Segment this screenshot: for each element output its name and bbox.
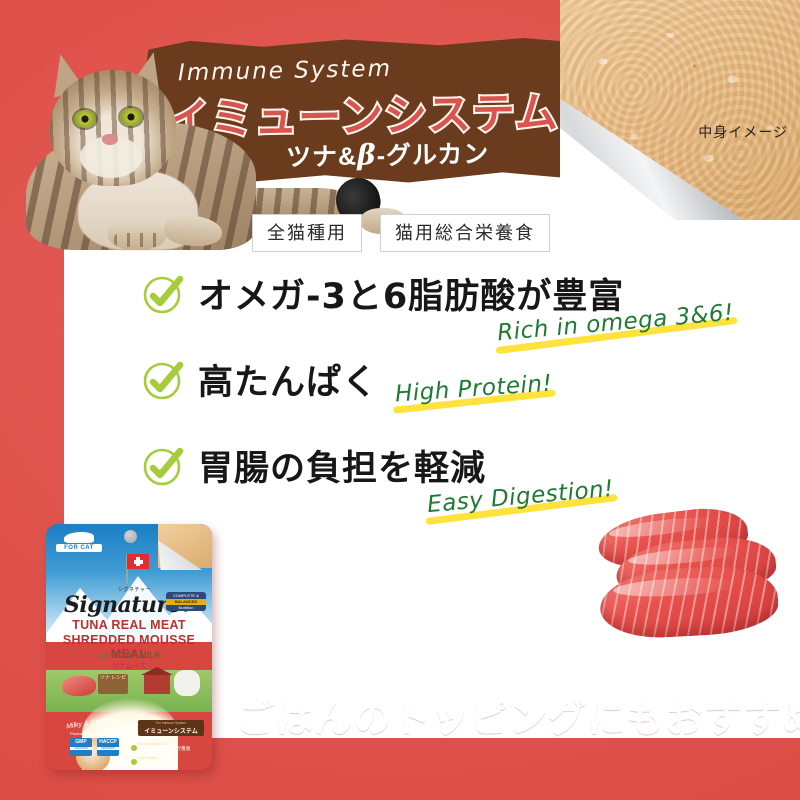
cat-nose (102, 134, 118, 145)
bottom-tagline: ごはんのトッピングにもおすすめ! (236, 688, 800, 743)
badge-all-breeds: 全猫種用 (252, 214, 362, 252)
hang-hole (124, 530, 137, 543)
package-corner-peel (158, 524, 212, 568)
with-label: with (97, 654, 109, 660)
feature-label-jp: 胃腸の負担を軽減 (198, 440, 486, 491)
panel-label-jp: イミューンシステム (138, 726, 204, 735)
feature-item: 高たんぱく High Protein! (142, 354, 762, 440)
headline-subtitle: ツナ&β-グルカン (286, 134, 490, 174)
badge-row: 全猫種用 猫用総合栄養食 (252, 214, 550, 252)
subtitle-post: -グルカン (376, 140, 489, 170)
for-cat-badge: FOR CAT (56, 532, 102, 554)
package-title-line1: TUNA REAL MEAT (46, 618, 212, 632)
cert-badge-haccp: HACCPCERTIFIED (97, 738, 119, 756)
package-title-line3: with GOAT MILK (46, 650, 212, 660)
swiss-flag-icon (127, 554, 149, 569)
cert-badge-gmp: GMPCERTIFIED (70, 738, 92, 756)
recipe-sign: ツナ レシピ (98, 674, 128, 694)
ribbon-top: COMPLETE & (173, 593, 199, 598)
badge-complete-nutrition: 猫用総合栄養食 (380, 214, 550, 252)
cat-silhouette-icon (64, 532, 94, 543)
cat-eye-left (74, 110, 96, 128)
for-cat-label: FOR CAT (56, 544, 102, 552)
cat-eye-right (120, 108, 142, 126)
package-bullet: Rich in omega 3 & 6 オメガ 3と6脂肪酸が豊富 (138, 742, 208, 752)
package-bullet: High Protein 高たんぱく (138, 756, 208, 766)
feature-item: オメガ-3と6脂肪酸が豊富 Rich in omega 3&6! (142, 268, 762, 354)
panel-label-en: For Immune System (138, 721, 204, 725)
ribbon-bottom: Nutrition (179, 605, 194, 610)
cat-toes (114, 233, 162, 247)
package-bullet-jp: 高たんぱく (138, 760, 208, 766)
tuna-meat-illustration (62, 676, 96, 696)
package-immune-panel: For Immune System イミューンシステム (138, 720, 204, 736)
feature-label-jp: 高たんぱく (198, 354, 378, 405)
check-circle-icon (142, 360, 184, 402)
check-circle-icon (142, 274, 184, 316)
feature-list: オメガ-3と6脂肪酸が豊富 Rich in omega 3&6! 高たんぱく H… (142, 268, 762, 526)
package-bullet-jp: オメガ 3と6脂肪酸が豊富 (138, 746, 208, 752)
tuna-fillet-photo (598, 506, 788, 648)
certification-row: GMPCERTIFIED HACCPCERTIFIED (70, 738, 119, 756)
package-ribbon: COMPLETE & BALANCED Nutrition (166, 592, 206, 611)
contents-image-label: 中身イメージ (698, 122, 788, 142)
goat-illustration (174, 670, 200, 696)
contents-peel-photo: 中身イメージ (560, 0, 800, 220)
feature-label-en: High Protein! (391, 370, 556, 409)
produced-note: Produced at a healthy (70, 731, 109, 736)
product-package: FOR CAT シグネチャー Signature7 COMPLETE & BAL… (46, 524, 212, 770)
barn-illustration (144, 674, 170, 694)
feature-label-jp: オメガ-3と6脂肪酸が豊富 (198, 268, 624, 319)
advertisement-canvas: Immune System イミューンシステム ツナ&β-グルカン 中身イメージ… (0, 0, 800, 800)
check-circle-icon (142, 446, 184, 488)
beta-glyph: β (357, 138, 377, 171)
